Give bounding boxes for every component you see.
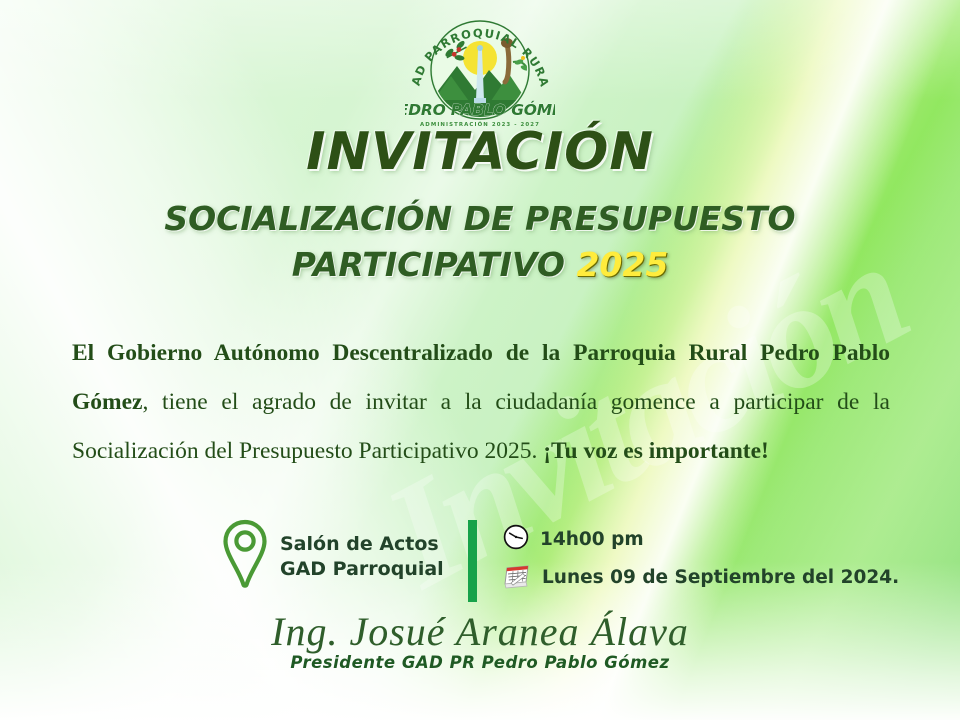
map-pin-icon	[222, 518, 268, 595]
subtitle-line-2: PARTICIPATIVO 2025	[0, 242, 960, 288]
logo-svg: GAD PARROQUIAL RURAL PEDRO PABLO GÓMEZ A…	[405, 14, 555, 132]
event-time-value: 14h00 pm	[540, 529, 644, 550]
invitation-poster: Invitación	[0, 0, 960, 720]
event-place-line-1: Salón de Actos	[280, 532, 444, 557]
subtitle-year: 2025	[576, 245, 668, 284]
gad-parroquial-rural-logo: GAD PARROQUIAL RURAL PEDRO PABLO GÓMEZ A…	[405, 14, 555, 132]
event-details: Salón de Actos GAD Parroquial 14h00 pm	[0, 512, 960, 608]
body-bold-tail: ¡Tu voz es importante!	[543, 438, 769, 464]
event-date-value: Lunes 09 de Septiembre del 2024.	[542, 567, 899, 588]
page-title: INVITACIÓN	[0, 122, 960, 182]
invitation-body: El Gobierno Autónomo Descentralizado de …	[72, 329, 890, 476]
subtitle: SOCIALIZACIÓN DE PRESUPUESTO PARTICIPATI…	[0, 196, 960, 288]
event-place-text: Salón de Actos GAD Parroquial	[280, 532, 444, 582]
subtitle-line-2-text: PARTICIPATIVO	[292, 245, 565, 284]
event-place: Salón de Actos GAD Parroquial	[222, 518, 444, 595]
signature-name: Ing. Josué Aranea Álava	[0, 609, 960, 655]
event-time-row: 14h00 pm	[502, 520, 899, 558]
signature-role: Presidente GAD PR Pedro Pablo Gómez	[0, 653, 960, 672]
details-divider	[468, 520, 477, 602]
signature-block: Ing. Josué Aranea Álava Presidente GAD P…	[0, 609, 960, 672]
event-time-date: 14h00 pm	[502, 520, 899, 596]
subtitle-line-1: SOCIALIZACIÓN DE PRESUPUESTO	[0, 196, 960, 242]
event-place-line-2: GAD Parroquial	[280, 557, 444, 582]
calendar-icon	[502, 560, 532, 595]
clock-icon	[502, 523, 530, 556]
event-date-row: Lunes 09 de Septiembre del 2024.	[502, 558, 899, 596]
logo-name-text: PEDRO PABLO GÓMEZ	[405, 100, 555, 119]
